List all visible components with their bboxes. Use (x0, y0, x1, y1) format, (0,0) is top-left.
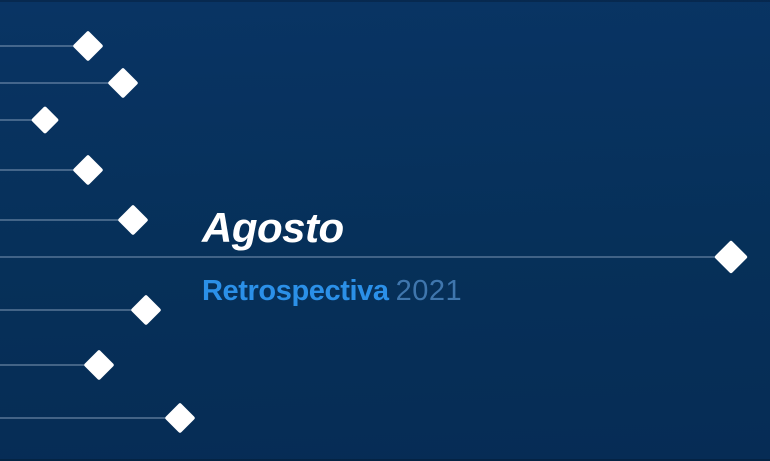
connector-line (0, 418, 172, 419)
connector-diamond-icon (72, 154, 103, 185)
connector-diamond-icon (117, 204, 148, 235)
connector-diamond-icon (164, 402, 195, 433)
connector-line (0, 46, 80, 47)
connector-line (0, 220, 125, 221)
top-edge-divider (0, 0, 770, 2)
connector-line (0, 310, 138, 311)
subtitle-block: Retrospectiva2021 (202, 274, 462, 313)
connector-diamond-icon (72, 30, 103, 61)
connector-diamond-icon (31, 106, 59, 134)
subtitle-year: 2021 (396, 275, 463, 307)
presentation-slide: Agosto Retrospectiva2021 (0, 0, 770, 461)
connector-line (0, 170, 80, 171)
connector-line (0, 83, 115, 84)
page-title: Agosto (202, 205, 722, 251)
connector-diamond-icon (83, 349, 114, 380)
connector-line (0, 365, 91, 366)
connector-diamond-icon (130, 294, 161, 325)
subtitle-label: Retrospectiva (202, 275, 389, 307)
main-divider-line (0, 257, 731, 258)
connector-diamond-icon (107, 67, 138, 98)
title-block: Agosto (202, 205, 722, 251)
